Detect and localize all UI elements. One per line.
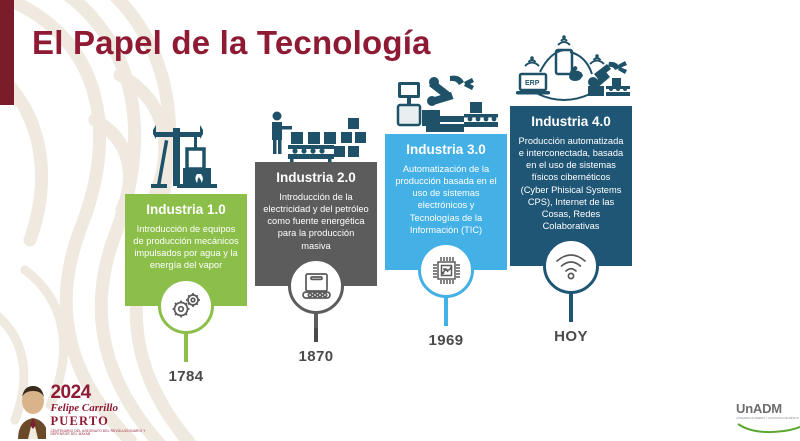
logo-text-block: 2024 Felipe Carrillo PUERTO CENTENARIO D… [46,383,162,439]
unadm-swoosh-icon [736,422,800,434]
timeline-step-industria-3[interactable]: Industria 3.0 Automatización de la produ… [385,60,507,349]
timeline-step-industria-1[interactable]: Industria 1.0 Introducción de equipos de… [125,120,247,385]
card-title: Industria 3.0 [392,142,500,158]
slide-canvas: El Papel de la Tecnología [0,0,800,441]
svg-text:ERP: ERP [525,80,540,87]
timeline-year: 1784 [169,368,204,385]
card-description: Producción automatizada e interconectada… [517,135,625,232]
logo-name: Felipe Carrillo [50,403,162,414]
timeline-step-industria-4[interactable]: ERP [510,32,632,345]
worker-conveyor-icon [264,88,368,162]
timeline-year: 1969 [429,332,464,349]
circle-appliance-icon [288,258,344,314]
card-industria-3: Industria 3.0 Automatización de la produ… [385,134,507,270]
logo-unadm: UnADM UNIVERSIDAD ABIERTA Y A DISTANCIA … [736,401,800,435]
timeline-tick [569,308,573,322]
card-title: Industria 4.0 [517,114,625,130]
timeline-tick [184,348,188,362]
robot-arm-icon [390,60,502,134]
iot-network-icon: ERP [512,32,630,106]
card-title: Industria 1.0 [132,202,240,218]
circle-gears-icon [158,278,214,334]
logo-subtitle: CENTENARIO DEL ASESINATO DEL REVOLUCIONA… [50,430,162,436]
unadm-wordmark: UnADM [736,401,800,416]
portrait-image [12,381,46,439]
card-industria-1: Industria 1.0 Introducción de equipos de… [125,194,247,306]
card-description: Introducción de la electricidad y del pe… [262,191,370,251]
steam-pump-icon [147,120,225,194]
timeline-year: 1870 [299,348,334,365]
card-industria-2: Industria 2.0 Introducción de la electri… [255,162,377,286]
logo-surname: PUERTO [50,415,162,428]
logo-year: 2024 [50,383,162,402]
card-industria-4: Industria 4.0 Producción automatizada e … [510,106,632,266]
card-description: Automatización de la producción basada e… [392,163,500,235]
circle-wifi-icon [543,238,599,294]
timeline-step-industria-2[interactable]: Industria 2.0 Introducción de la electri… [255,88,377,365]
card-description: Introducción de equipos de producción me… [132,223,240,271]
logo-felipe-carrillo-puerto: 2024 Felipe Carrillo PUERTO CENTENARIO D… [12,377,162,439]
timeline-tick [444,312,448,326]
unadm-subtitle: UNIVERSIDAD ABIERTA Y A DISTANCIA DE MÉX… [736,417,800,421]
circle-microchip-icon [418,242,474,298]
card-title: Industria 2.0 [262,170,370,186]
page-title: El Papel de la Tecnología [32,24,431,62]
timeline-tick [314,328,318,342]
timeline-year: HOY [554,328,588,345]
industry-timeline: Industria 1.0 Introducción de equipos de… [125,60,655,405]
accent-bar [0,0,14,105]
